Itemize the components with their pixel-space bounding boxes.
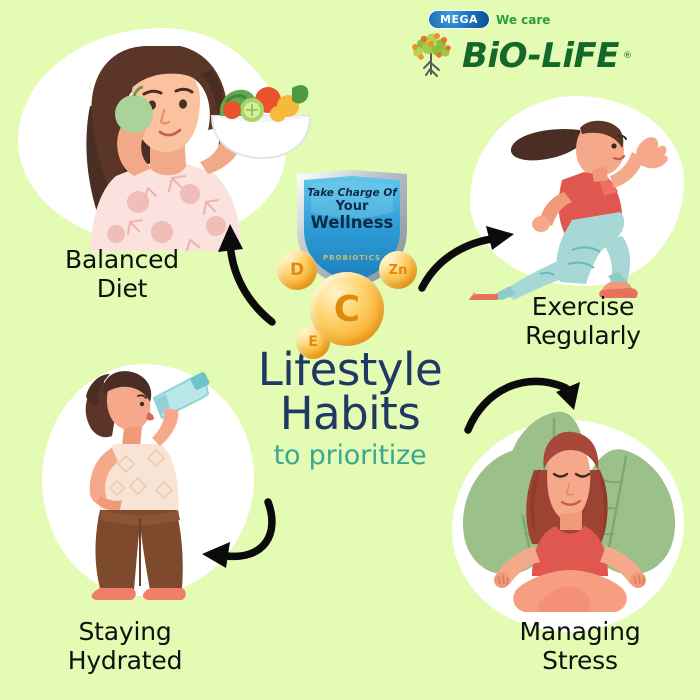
label-balanced-diet-line1: Balanced [22, 245, 222, 274]
page-title: Lifestyle Habits to prioritize [0, 348, 700, 477]
label-hydrated-line2: Hydrated [20, 646, 230, 675]
label-staying-hydrated: Staying Hydrated [20, 617, 230, 675]
brand-logo: MEGA We care [406, 10, 686, 82]
label-balanced-diet: Balanced Diet [22, 245, 222, 303]
tree-icon [406, 30, 458, 82]
arrow-to-exercise [420, 218, 526, 294]
brand-tagline: We care [496, 13, 550, 27]
title-subtitle: to prioritize [0, 436, 700, 477]
capsule-vitamin-c: C [310, 272, 384, 346]
trademark-symbol: ® [623, 51, 632, 61]
title-line-2: Habits [0, 392, 700, 436]
label-stress-line2: Stress [470, 646, 690, 675]
label-managing-stress: Managing Stress [470, 617, 690, 675]
label-hydrated-line1: Staying [20, 617, 230, 646]
label-exercise-regularly: Exercise Regularly [478, 292, 688, 350]
label-exercise-line2: Regularly [478, 321, 688, 350]
infographic-canvas: MEGA We care [0, 0, 700, 700]
mega-badge: MEGA [428, 10, 490, 29]
capsule-zinc: Zn [379, 251, 417, 289]
label-stress-line1: Managing [470, 617, 690, 646]
arrow-to-staying-hydrated [194, 498, 322, 584]
title-line-1: Lifestyle [0, 348, 700, 392]
brand-name: BiO-LiFE [462, 39, 619, 73]
label-balanced-diet-line2: Diet [22, 274, 222, 303]
label-exercise-line1: Exercise [478, 292, 688, 321]
capsule-vitamin-d: D [277, 250, 317, 290]
